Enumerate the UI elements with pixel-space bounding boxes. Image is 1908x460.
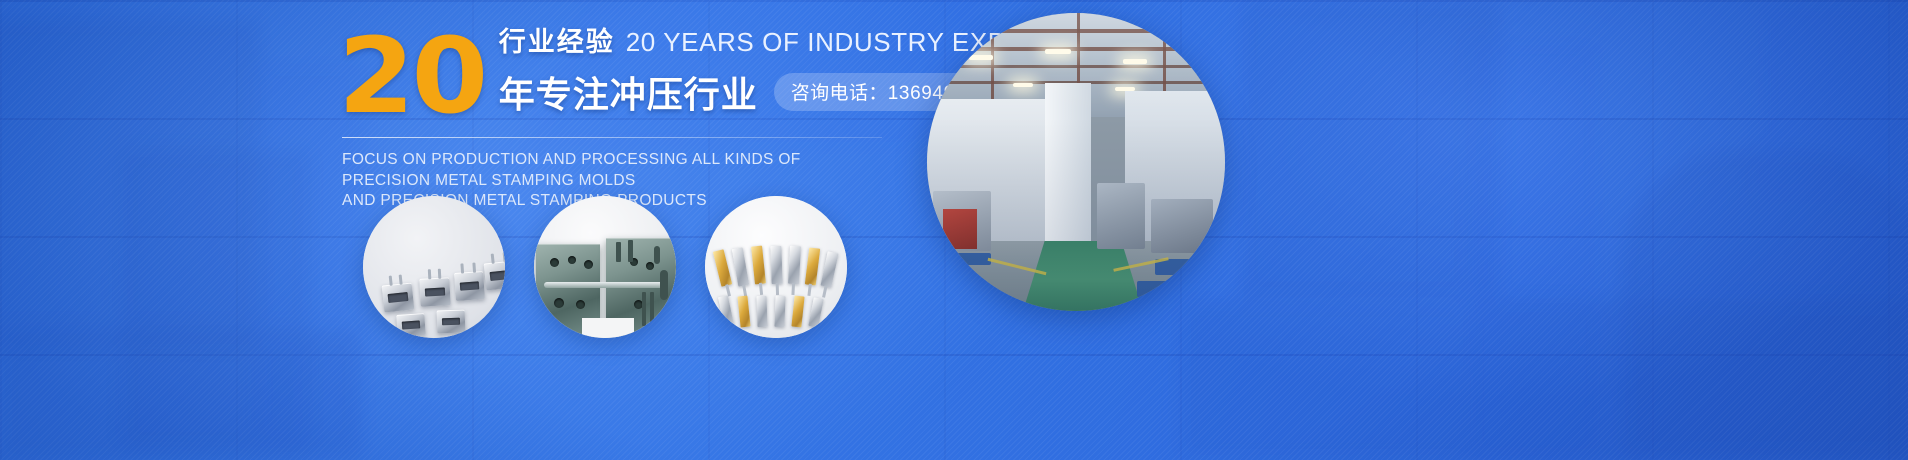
promo-banner: 20 行业经验 20 YEARS OF INDUSTRY EXPERIENCE …: [0, 0, 1908, 460]
divider-rule: [342, 137, 882, 138]
headline-block: 20 行业经验 20 YEARS OF INDUSTRY EXPERIENCE …: [338, 34, 898, 212]
years-number: 20: [338, 32, 485, 120]
product-circle-terminal-pins: [705, 196, 847, 338]
headline-cn-big: 年专注冲压行业: [499, 66, 758, 118]
phone-label: 咨询电话：: [791, 83, 888, 104]
subtitle-line-1: FOCUS ON PRODUCTION AND PROCESSING ALL K…: [342, 150, 887, 191]
product-circle-stamping-die: [534, 196, 676, 338]
factory-photo: [927, 13, 1225, 311]
product-circle-connectors: [363, 196, 505, 338]
headline-cn-small: 行业经验: [499, 20, 615, 59]
headline-row: 20 行业经验 20 YEARS OF INDUSTRY EXPERIENCE …: [338, 34, 898, 120]
